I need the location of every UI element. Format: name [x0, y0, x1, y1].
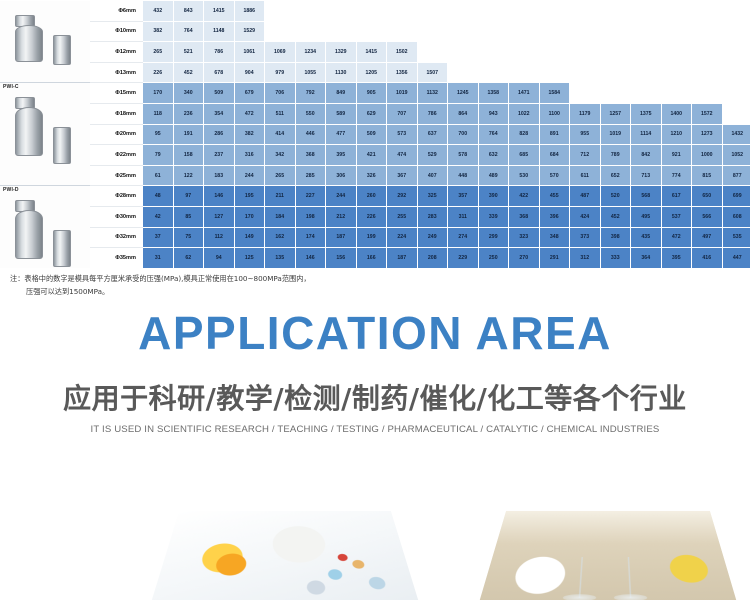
table-cell-empty [387, 1, 418, 22]
table-cell-value: 342 [265, 145, 296, 166]
table-cell-value: 446 [295, 124, 326, 145]
table-row: Φ13mm22645267890497910551130120513561507 [0, 62, 750, 83]
table-cell-empty [539, 21, 570, 42]
table-cell-value: 97 [173, 186, 204, 207]
table-cell-value: 843 [173, 1, 204, 22]
table-cell-value: 299 [478, 227, 509, 248]
table-cell-value: 828 [509, 124, 540, 145]
table-cell-empty [326, 21, 357, 42]
pharmaceutical-photo [150, 511, 420, 600]
table-cell-value: 149 [234, 227, 265, 248]
table-cell-value: 921 [661, 145, 692, 166]
table-cell-value: 650 [692, 186, 723, 207]
table-cell-empty [570, 83, 601, 104]
table-cell-value: 367 [387, 165, 418, 186]
table-cell-empty [631, 83, 662, 104]
table-row: Φ30mm42851271701841982122262552833113393… [0, 206, 750, 227]
table-cell-empty [692, 42, 723, 63]
table-cell-value: 652 [600, 165, 631, 186]
table-cell-value: 535 [722, 227, 750, 248]
table-cell-value: 422 [509, 186, 540, 207]
table-note: 注：表格中的数字是模具每平方厘米承受的压强(MPa),模具正常使用在100~80… [10, 272, 710, 298]
table-cell-value: 146 [295, 248, 326, 268]
table-cell-value: 199 [356, 227, 387, 248]
table-cell-empty [661, 62, 692, 83]
table-cell-empty [539, 1, 570, 22]
table-cell-value: 42 [143, 206, 174, 227]
table-cell-value: 162 [265, 227, 296, 248]
table-cell-value: 357 [448, 186, 479, 207]
table-cell-value: 208 [417, 248, 448, 268]
table-cell-value: 550 [295, 103, 326, 124]
table-cell-value: 712 [570, 145, 601, 166]
table-cell-value: 1375 [631, 103, 662, 124]
table-cell-empty [661, 83, 692, 104]
table-cell-value: 629 [356, 103, 387, 124]
table-cell-value: 125 [234, 248, 265, 268]
table-cell-value: 1114 [631, 124, 662, 145]
table-cell-value: 333 [600, 248, 631, 268]
die-cylinder-icon [15, 192, 75, 268]
table-cell-value: 174 [295, 227, 326, 248]
table-cell-value: 905 [356, 83, 387, 104]
wine-glass-icon [628, 557, 632, 598]
table-cell-value: 1019 [387, 83, 418, 104]
table-cell-value: 1356 [387, 62, 418, 83]
table-cell-empty [600, 21, 631, 42]
die-part [53, 35, 71, 64]
table-cell-empty [600, 1, 631, 22]
table-cell-value: 815 [692, 165, 723, 186]
table-row: Φ32mm37751121491621741871992242492742993… [0, 227, 750, 248]
diameter-label: Φ10mm [90, 21, 143, 42]
table-cell-value: 421 [356, 145, 387, 166]
table-cell-value: 1100 [539, 103, 570, 124]
table-cell-value: 85 [173, 206, 204, 227]
table-cell-value: 1179 [570, 103, 601, 124]
table-cell-value: 395 [326, 145, 357, 166]
diameter-label: Φ22mm [90, 145, 143, 166]
table-cell-value: 340 [173, 83, 204, 104]
diameter-label: Φ12mm [90, 42, 143, 63]
table-cell-value: 509 [204, 83, 235, 104]
table-cell-empty [448, 1, 479, 22]
table-cell-empty [661, 42, 692, 63]
table-cell-empty [692, 83, 723, 104]
table-cell-value: 472 [661, 227, 692, 248]
table-cell-value: 195 [234, 186, 265, 207]
subtitle-english: IT IS USED IN SCIENTIFIC RESEARCH / TEAC… [0, 424, 750, 435]
table-cell-empty [478, 21, 509, 42]
table-cell-value: 1132 [417, 83, 448, 104]
table-cell-value: 679 [234, 83, 265, 104]
table-cell-value: 286 [204, 124, 235, 145]
table-cell-value: 495 [631, 206, 662, 227]
table-cell-value: 713 [631, 165, 662, 186]
table-cell-value: 382 [143, 21, 174, 42]
table-cell-empty [478, 42, 509, 63]
table-cell-empty [722, 1, 750, 22]
table-cell-value: 260 [356, 186, 387, 207]
table-cell-value: 198 [295, 206, 326, 227]
table-cell-value: 529 [417, 145, 448, 166]
table-cell-value: 316 [234, 145, 265, 166]
table-cell-value: 1502 [387, 42, 418, 63]
table-cell-empty [356, 1, 387, 22]
table-cell-empty [722, 103, 750, 124]
table-cell-value: 1584 [539, 83, 570, 104]
table-cell-value: 678 [204, 62, 235, 83]
diameter-label: Φ6mm [90, 1, 143, 22]
table-cell-empty [722, 21, 750, 42]
table-cell-value: 75 [173, 227, 204, 248]
application-area-block: APPLICATION AREA 应用于科研/教学/检测/制药/催化/化工等各个… [0, 305, 750, 435]
table-cell-value: 250 [478, 248, 509, 268]
table-cell-value: 566 [692, 206, 723, 227]
table-cell-value: 432 [143, 1, 174, 22]
table-cell-value: 685 [509, 145, 540, 166]
table-cell-value: 707 [387, 103, 418, 124]
table-cell-empty [417, 42, 448, 63]
table-cell-empty [570, 1, 601, 22]
table-cell-value: 368 [509, 206, 540, 227]
table-cell-value: 684 [539, 145, 570, 166]
table-cell-value: 187 [326, 227, 357, 248]
table-cell-value: 1432 [722, 124, 750, 145]
table-cell-value: 95 [143, 124, 174, 145]
table-cell-value: 135 [265, 248, 296, 268]
table-cell-value: 1148 [204, 21, 235, 42]
table-cell-value: 265 [265, 165, 296, 186]
table-cell-value: 570 [539, 165, 570, 186]
table-cell-value: 699 [722, 186, 750, 207]
table-cell-value: 112 [204, 227, 235, 248]
page-title: APPLICATION AREA [0, 305, 750, 361]
pressure-table: Φ6mm43284314151886Φ10mm38276411481529Φ12… [0, 0, 750, 268]
diameter-label: Φ32mm [90, 227, 143, 248]
product-image-cell [0, 1, 90, 83]
table-cell-value: 382 [234, 124, 265, 145]
table-cell-value: 568 [631, 186, 662, 207]
table-cell-value: 48 [143, 186, 174, 207]
table-cell-value: 184 [265, 206, 296, 227]
table-cell-empty [661, 1, 692, 22]
table-cell-value: 249 [417, 227, 448, 248]
table-cell-value: 354 [204, 103, 235, 124]
table-cell-empty [722, 62, 750, 83]
table-cell-value: 979 [265, 62, 296, 83]
table-cell-value: 511 [265, 103, 296, 124]
table-cell-empty [631, 1, 662, 22]
table-cell-value: 156 [326, 248, 357, 268]
table-cell-empty [722, 83, 750, 104]
table-cell-value: 877 [722, 165, 750, 186]
table-cell-value: 904 [234, 62, 265, 83]
table-cell-empty [692, 1, 723, 22]
table-cell-value: 448 [448, 165, 479, 186]
diameter-label: Φ15mm [90, 83, 143, 104]
table-row: Φ22mm79158237316342368395421474529578632… [0, 145, 750, 166]
table-cell-value: 521 [173, 42, 204, 63]
table-cell-value: 118 [143, 103, 174, 124]
table-cell-empty [509, 21, 540, 42]
table-cell-value: 211 [265, 186, 296, 207]
table-cell-empty [265, 1, 296, 22]
diameter-label: Φ30mm [90, 206, 143, 227]
table-cell-empty [448, 42, 479, 63]
diameter-label: Φ13mm [90, 62, 143, 83]
table-cell-value: 1415 [356, 42, 387, 63]
table-cell-empty [448, 62, 479, 83]
table-cell-value: 774 [661, 165, 692, 186]
table-cell-value: 396 [539, 206, 570, 227]
table-cell-value: 368 [295, 145, 326, 166]
table-cell-value: 348 [539, 227, 570, 248]
table-cell-empty [600, 83, 631, 104]
table-cell-value: 435 [631, 227, 662, 248]
table-cell-value: 31 [143, 248, 174, 268]
table-cell-empty [661, 21, 692, 42]
table-cell-value: 122 [173, 165, 204, 186]
pressure-table-block: Φ6mm43284314151886Φ10mm38276411481529Φ12… [0, 0, 750, 268]
table-cell-value: 447 [722, 248, 750, 268]
table-cell-value: 62 [173, 248, 204, 268]
table-cell-value: 255 [387, 206, 418, 227]
table-cell-value: 497 [692, 227, 723, 248]
table-cell-value: 477 [326, 124, 357, 145]
table-cell-empty [570, 62, 601, 83]
table-cell-value: 1130 [326, 62, 357, 83]
die-part [15, 25, 43, 62]
table-cell-value: 407 [417, 165, 448, 186]
table-cell-value: 786 [417, 103, 448, 124]
table-cell-value: 1061 [234, 42, 265, 63]
product-image-cell: PWI-C [0, 83, 90, 186]
table-cell-empty [295, 21, 326, 42]
pressure-table-body: Φ6mm43284314151886Φ10mm38276411481529Φ12… [0, 1, 750, 269]
table-cell-empty [600, 62, 631, 83]
table-cell-value: 891 [539, 124, 570, 145]
table-cell-value: 79 [143, 145, 174, 166]
table-cell-value: 589 [326, 103, 357, 124]
table-row: Φ25mm61122183244265285306326367407448489… [0, 165, 750, 186]
table-cell-value: 339 [478, 206, 509, 227]
table-cell-value: 537 [661, 206, 692, 227]
table-cell-value: 700 [448, 124, 479, 145]
table-cell-value: 1257 [600, 103, 631, 124]
table-cell-value: 364 [631, 248, 662, 268]
table-cell-empty [417, 1, 448, 22]
table-cell-empty [692, 21, 723, 42]
table-cell-empty [539, 62, 570, 83]
die-part [15, 107, 43, 155]
table-cell-empty [265, 21, 296, 42]
product-image-cell: PWI-D [0, 186, 90, 268]
table-cell-value: 1529 [234, 21, 265, 42]
table-cell-empty [631, 42, 662, 63]
table-cell-value: 509 [356, 124, 387, 145]
table-cell-value: 764 [173, 21, 204, 42]
table-cell-value: 1358 [478, 83, 509, 104]
table-cell-value: 94 [204, 248, 235, 268]
table-row: PWI-DΦ28mm489714619521122724426029232535… [0, 186, 750, 207]
table-cell-value: 306 [326, 165, 357, 186]
table-row: Φ35mm31629412513514615616618720822925027… [0, 248, 750, 268]
table-cell-value: 1415 [204, 1, 235, 22]
wine-glass-icon [579, 557, 584, 598]
table-cell-empty [326, 1, 357, 22]
table-cell-value: 226 [356, 206, 387, 227]
table-cell-empty [631, 62, 662, 83]
table-cell-value: 474 [387, 145, 418, 166]
table-cell-value: 792 [295, 83, 326, 104]
table-cell-empty [478, 1, 509, 22]
table-cell-value: 1055 [295, 62, 326, 83]
table-cell-value: 637 [417, 124, 448, 145]
table-cell-value: 452 [600, 206, 631, 227]
table-cell-empty [478, 62, 509, 83]
table-cell-value: 617 [661, 186, 692, 207]
table-cell-value: 191 [173, 124, 204, 145]
table-cell-value: 236 [173, 103, 204, 124]
table-cell-value: 285 [295, 165, 326, 186]
table-cell-value: 786 [204, 42, 235, 63]
table-cell-value: 224 [387, 227, 418, 248]
table-row: PWI-CΦ15mm170340509679706792849905101911… [0, 83, 750, 104]
diameter-label: Φ18mm [90, 103, 143, 124]
diameter-label: Φ35mm [90, 248, 143, 268]
diameter-label: Φ25mm [90, 165, 143, 186]
table-cell-value: 1273 [692, 124, 723, 145]
die-cylinder-icon [15, 7, 75, 71]
die-part [15, 210, 43, 258]
table-cell-value: 842 [631, 145, 662, 166]
table-cell-value: 1507 [417, 62, 448, 83]
diameter-label: Φ28mm [90, 186, 143, 207]
table-cell-value: 1022 [509, 103, 540, 124]
table-cell-value: 212 [326, 206, 357, 227]
table-cell-value: 1069 [265, 42, 296, 63]
table-cell-value: 1400 [661, 103, 692, 124]
table-cell-empty [570, 21, 601, 42]
table-cell-value: 292 [387, 186, 418, 207]
table-row: Φ20mm95191286382414446477509573637700764… [0, 124, 750, 145]
table-cell-value: 158 [173, 145, 204, 166]
die-part [53, 230, 71, 267]
table-cell-value: 943 [478, 103, 509, 124]
table-cell-value: 187 [387, 248, 418, 268]
table-cell-value: 1245 [448, 83, 479, 104]
table-cell-empty [448, 21, 479, 42]
table-cell-value: 472 [234, 103, 265, 124]
table-cell-value: 237 [204, 145, 235, 166]
table-cell-value: 414 [265, 124, 296, 145]
table-row: Φ12mm265521786106110691234132914151502 [0, 42, 750, 63]
table-cell-empty [570, 42, 601, 63]
table-cell-value: 398 [600, 227, 631, 248]
table-cell-value: 61 [143, 165, 174, 186]
table-cell-value: 226 [143, 62, 174, 83]
table-cell-value: 323 [509, 227, 540, 248]
table-note-line-2: 压强可以达到1500MPa。 [10, 285, 710, 298]
table-cell-value: 170 [143, 83, 174, 104]
table-cell-value: 1234 [295, 42, 326, 63]
table-cell-value: 530 [509, 165, 540, 186]
table-cell-empty [295, 1, 326, 22]
table-cell-value: 578 [448, 145, 479, 166]
table-cell-value: 326 [356, 165, 387, 186]
table-cell-value: 1329 [326, 42, 357, 63]
table-cell-empty [387, 21, 418, 42]
table-cell-value: 229 [448, 248, 479, 268]
photo-strip [0, 505, 750, 600]
table-cell-value: 373 [570, 227, 601, 248]
table-cell-empty [600, 42, 631, 63]
food-beverage-photo [478, 511, 738, 600]
table-cell-value: 608 [722, 206, 750, 227]
table-note-line-1: 注：表格中的数字是模具每平方厘米承受的压强(MPa),模具正常使用在100~80… [10, 274, 311, 283]
table-cell-value: 1886 [234, 1, 265, 22]
table-cell-empty [509, 62, 540, 83]
table-cell-empty [539, 42, 570, 63]
table-cell-value: 244 [326, 186, 357, 207]
table-cell-empty [417, 21, 448, 42]
table-cell-value: 274 [448, 227, 479, 248]
subtitle-chinese: 应用于科研/教学/检测/制药/催化/化工等各个行业 [0, 377, 750, 417]
table-cell-empty [692, 62, 723, 83]
table-cell-value: 764 [478, 124, 509, 145]
die-part [53, 127, 71, 164]
table-cell-value: 864 [448, 103, 479, 124]
table-cell-value: 283 [417, 206, 448, 227]
table-cell-value: 955 [570, 124, 601, 145]
table-cell-value: 789 [600, 145, 631, 166]
table-row: Φ6mm43284314151886 [0, 1, 750, 22]
table-cell-value: 311 [448, 206, 479, 227]
table-cell-value: 312 [570, 248, 601, 268]
table-cell-value: 706 [265, 83, 296, 104]
table-cell-value: 166 [356, 248, 387, 268]
die-cylinder-icon [15, 89, 75, 173]
table-cell-value: 183 [204, 165, 235, 186]
table-cell-value: 849 [326, 83, 357, 104]
table-cell-empty [509, 42, 540, 63]
table-cell-value: 416 [692, 248, 723, 268]
table-cell-value: 1205 [356, 62, 387, 83]
table-cell-value: 227 [295, 186, 326, 207]
table-cell-value: 37 [143, 227, 174, 248]
table-cell-value: 291 [539, 248, 570, 268]
table-cell-value: 1210 [661, 124, 692, 145]
table-cell-value: 487 [570, 186, 601, 207]
table-cell-value: 146 [204, 186, 235, 207]
table-row: Φ18mm11823635447251155058962970778686494… [0, 103, 750, 124]
table-cell-value: 1000 [692, 145, 723, 166]
table-cell-value: 1572 [692, 103, 723, 124]
diameter-label: Φ20mm [90, 124, 143, 145]
table-cell-value: 489 [478, 165, 509, 186]
table-cell-value: 611 [570, 165, 601, 186]
table-cell-empty [509, 1, 540, 22]
table-cell-value: 455 [539, 186, 570, 207]
table-cell-value: 452 [173, 62, 204, 83]
table-row: Φ10mm38276411481529 [0, 21, 750, 42]
table-cell-value: 1052 [722, 145, 750, 166]
table-cell-value: 244 [234, 165, 265, 186]
table-cell-empty [722, 42, 750, 63]
table-cell-value: 395 [661, 248, 692, 268]
table-cell-value: 1019 [600, 124, 631, 145]
